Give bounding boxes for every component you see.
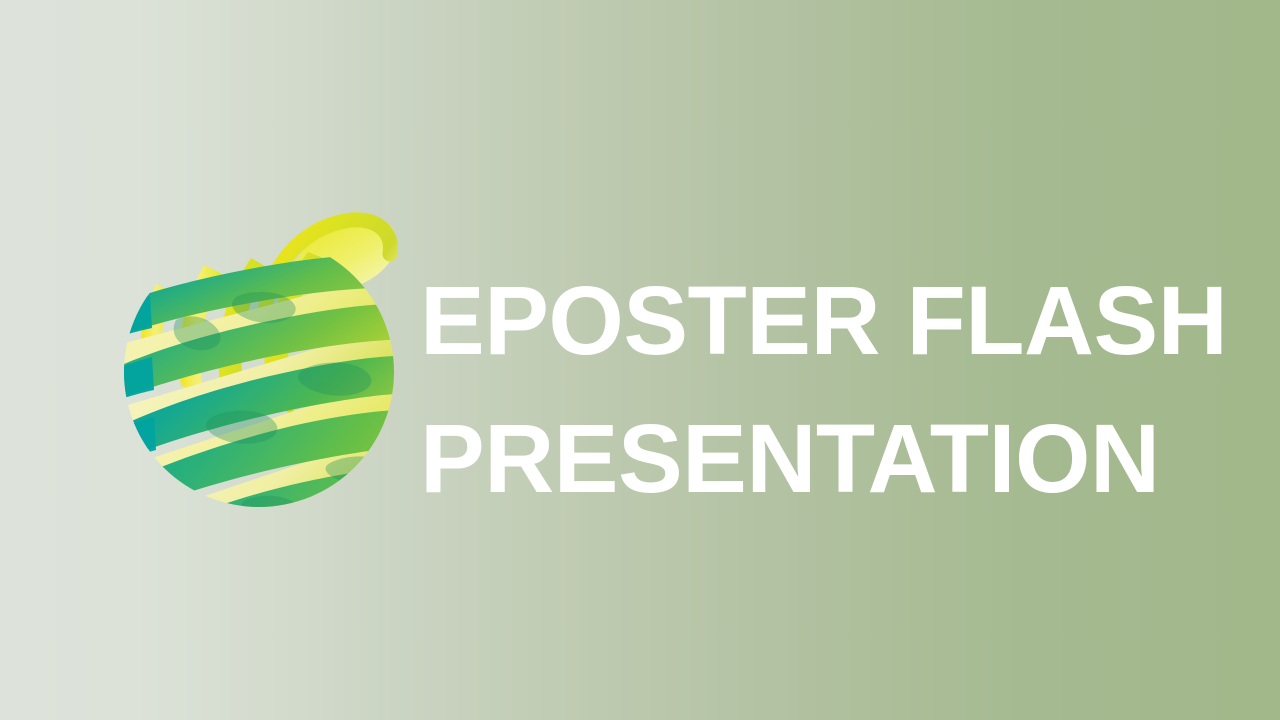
slide-title: EPOSTER FLASH PRESENTATION — [420, 252, 1210, 528]
title-slide: EPOSTER FLASH PRESENTATION — [0, 0, 1280, 720]
title-line-1: EPOSTER FLASH — [420, 252, 1210, 390]
title-line-2: PRESENTATION — [420, 390, 1210, 528]
globe-ribbon-logo — [118, 200, 400, 515]
logo-globe-bands — [118, 254, 400, 515]
